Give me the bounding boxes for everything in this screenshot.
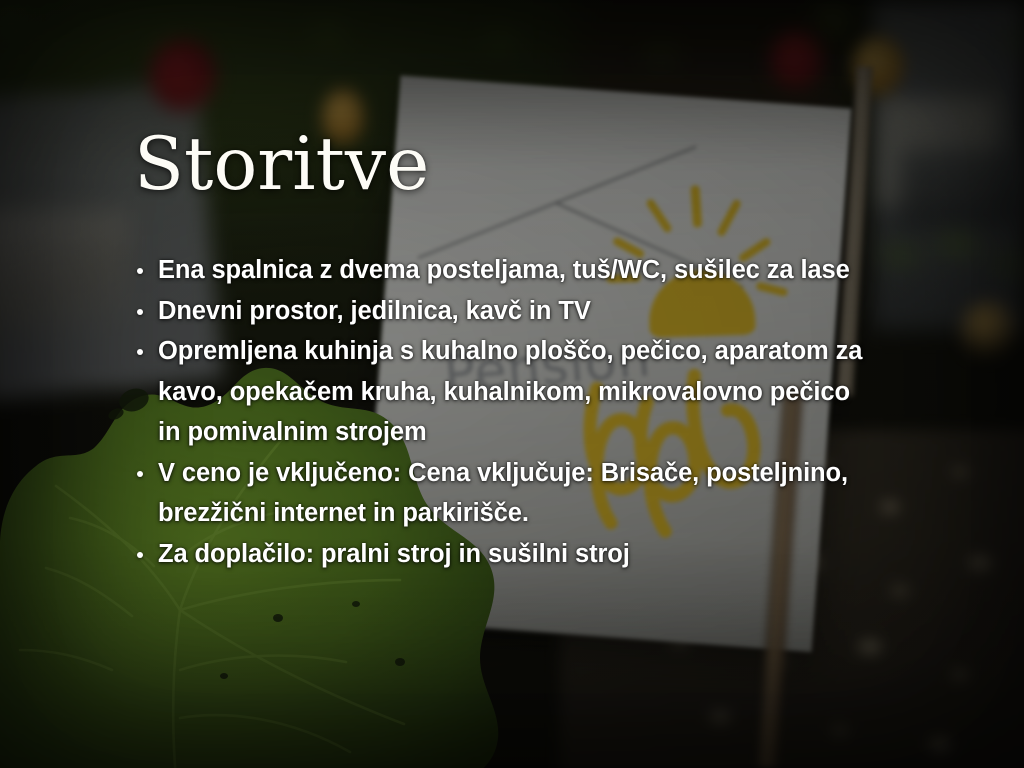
bullet-item: Za doplačilo: pralni stroj in sušilni st… [132, 534, 872, 575]
bullet-item: Opremljena kuhinja s kuhalno ploščo, peč… [132, 331, 872, 453]
bullet-item: Ena spalnica z dvema posteljama, tuš/WC,… [132, 250, 872, 291]
slide-bullet-list: Ena spalnica z dvema posteljama, tuš/WC,… [132, 250, 872, 574]
presentation-slide: Pension [0, 0, 1024, 768]
slide-content: Storitve Ena spalnica z dvema posteljama… [0, 0, 1024, 768]
bullet-item: Dnevni prostor, jedilnica, kavč in TV [132, 291, 872, 332]
bullet-item: V ceno je vključeno: Cena vključuje: Bri… [132, 453, 872, 534]
slide-title: Storitve [134, 128, 429, 201]
